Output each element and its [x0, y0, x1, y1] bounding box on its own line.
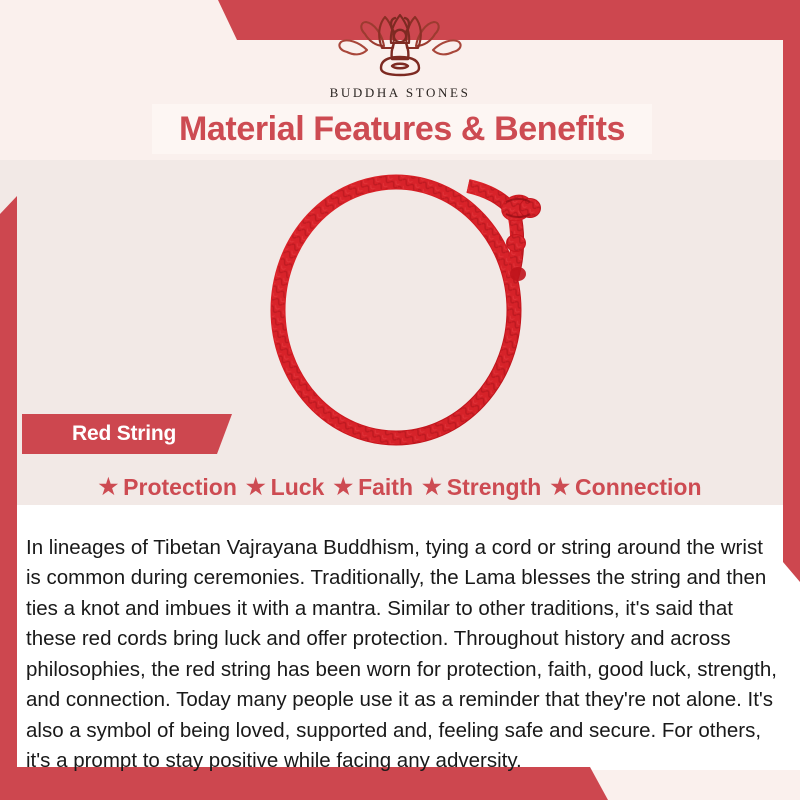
benefit-item: ★ Protection [98, 474, 236, 501]
brand-name: BUDDHA STONES [330, 85, 471, 101]
star-icon: ★ [333, 476, 353, 498]
benefit-label: Faith [358, 474, 413, 501]
product-image [268, 168, 568, 448]
lotus-meditation-icon [337, 12, 463, 83]
benefit-label: Strength [447, 474, 542, 501]
brand-logo: BUDDHA STONES [0, 12, 800, 101]
material-label: Red String [72, 422, 176, 446]
benefits-list: ★ Protection ★ Luck ★ Faith ★ Strength ★… [0, 467, 800, 507]
title-banner: Material Features & Benefits [152, 104, 652, 154]
star-icon: ★ [422, 476, 442, 498]
star-icon: ★ [246, 476, 266, 498]
benefit-item: ★ Strength [422, 474, 541, 501]
benefit-item: ★ Connection [550, 474, 701, 501]
star-icon: ★ [550, 476, 570, 498]
benefit-label: Luck [271, 474, 325, 501]
benefit-item: ★ Faith [333, 474, 413, 501]
benefit-label: Connection [575, 474, 702, 501]
benefit-item: ★ Luck [246, 474, 324, 501]
benefit-label: Protection [123, 474, 237, 501]
material-label-banner: Red String [22, 414, 232, 454]
poster-root: BUDDHA STONES Material Features & Benefi… [0, 0, 800, 800]
page-title: Material Features & Benefits [179, 110, 625, 149]
star-icon: ★ [98, 476, 118, 498]
description-paragraph: In lineages of Tibetan Vajrayana Buddhis… [26, 533, 778, 777]
